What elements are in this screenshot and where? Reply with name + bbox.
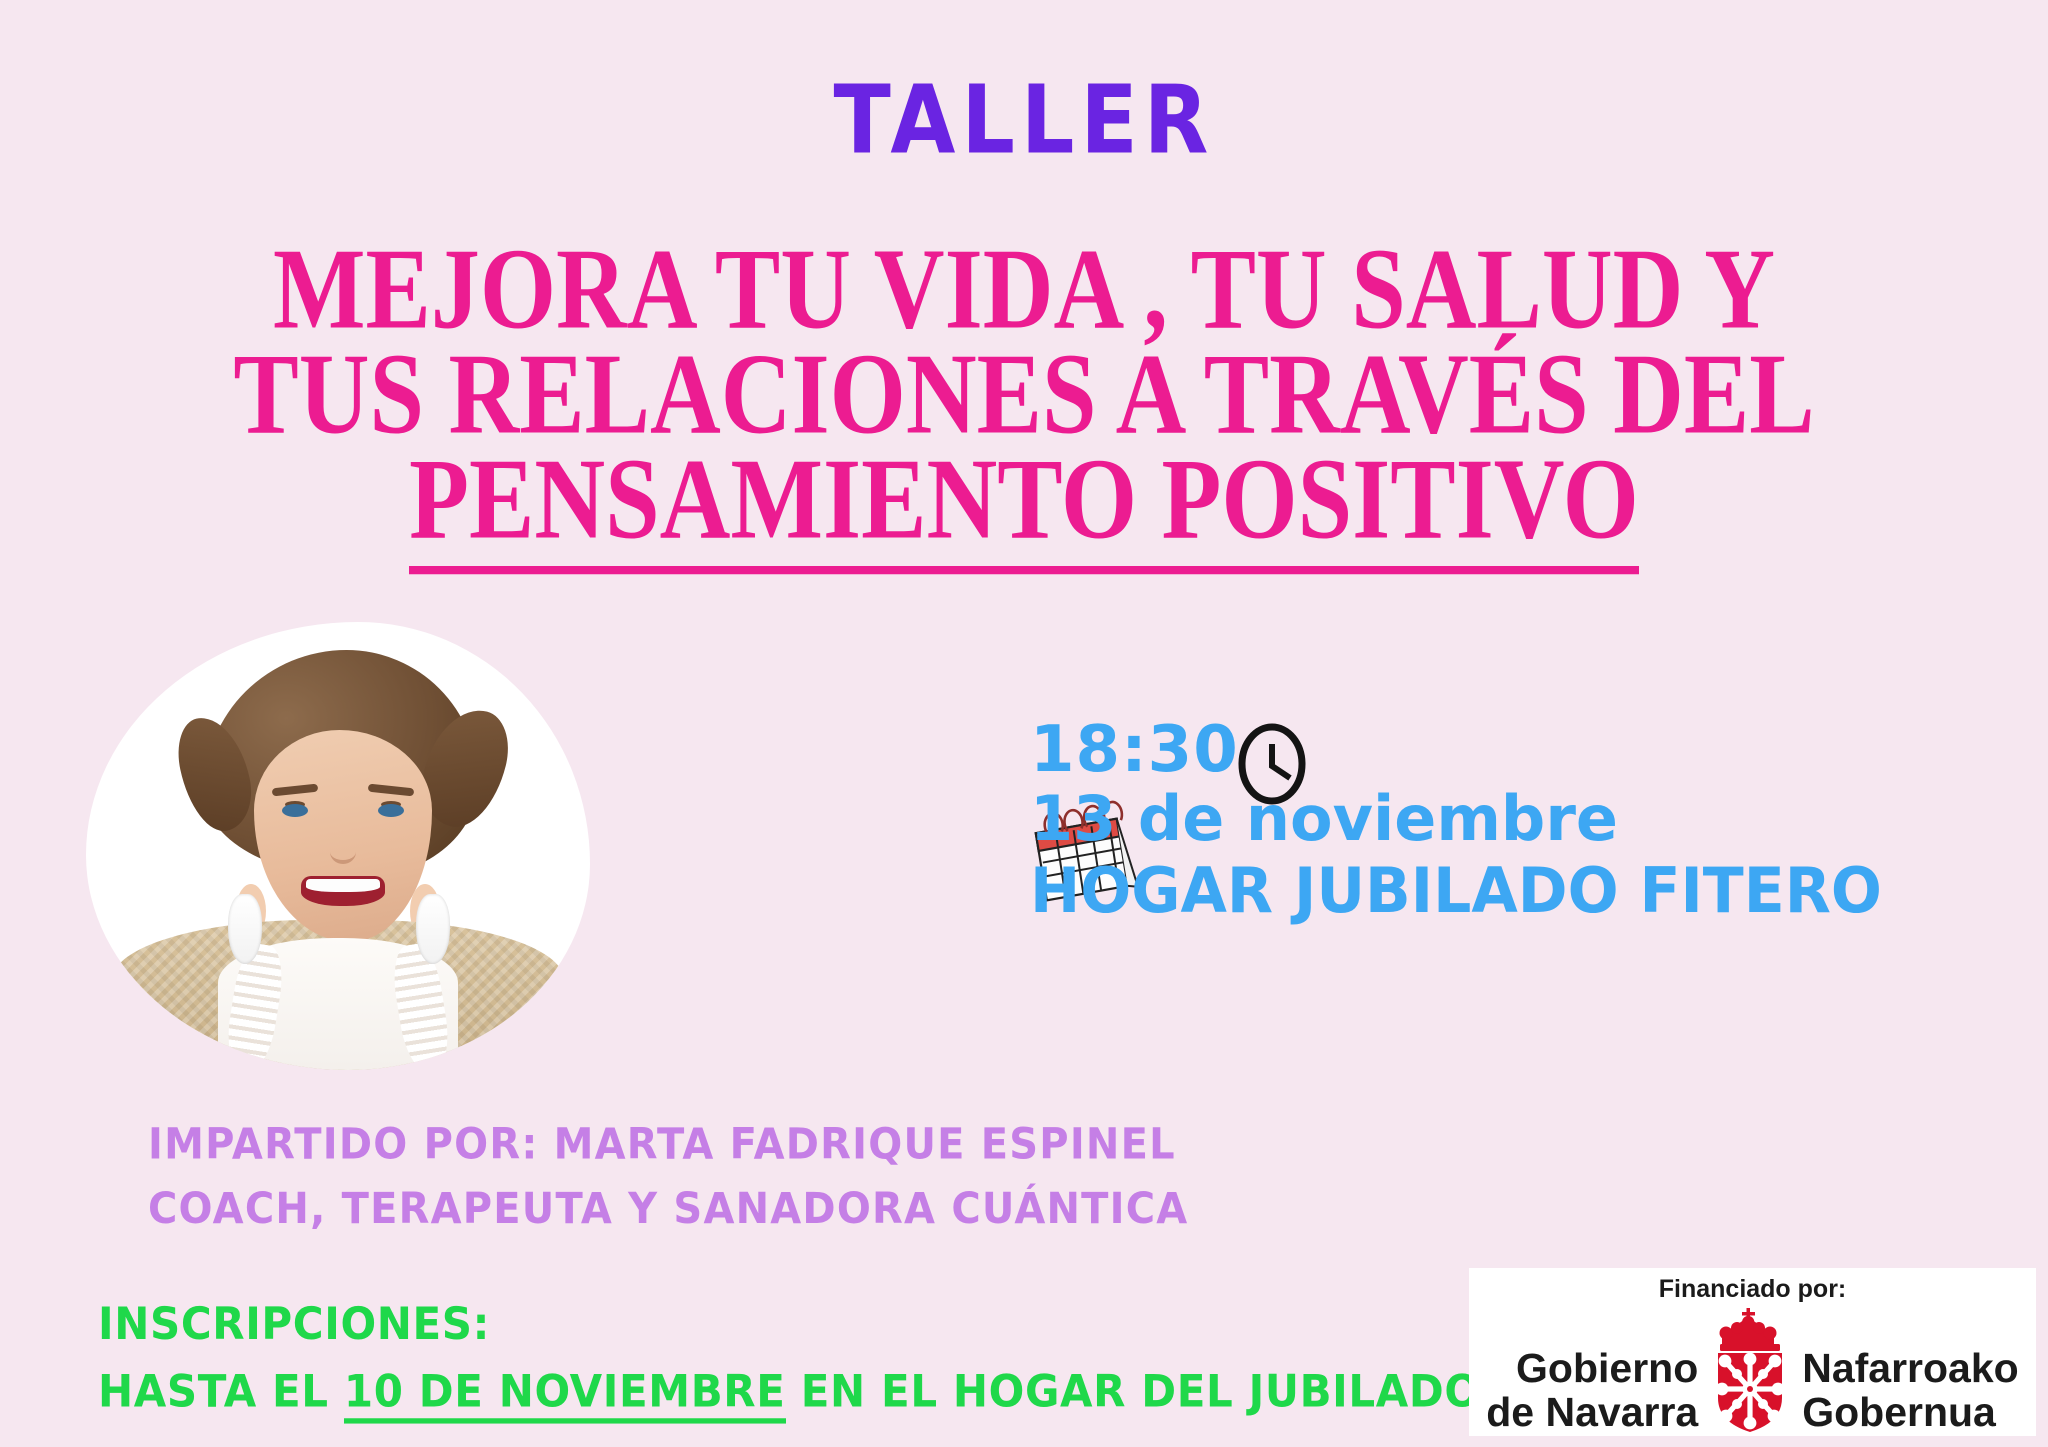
instructor-name-line: IMPARTIDO POR: MARTA FADRIQUE ESPINEL bbox=[148, 1113, 1188, 1177]
portrait-eye-left bbox=[282, 804, 308, 817]
page-title: MEJORA TU VIDA , TU SALUD Y TUS RELACION… bbox=[0, 238, 2048, 553]
portrait-earring-left bbox=[228, 894, 262, 964]
portrait-nose bbox=[330, 840, 356, 864]
portrait-mouth bbox=[301, 876, 385, 906]
poster-canvas: TALLER MEJORA TU VIDA , TU SALUD Y TUS R… bbox=[0, 0, 2048, 1447]
funder-name-spanish-line2: de Navarra bbox=[1486, 1391, 1698, 1434]
registration-prefix: HASTA EL bbox=[98, 1365, 344, 1417]
funder-logo: Financiado por: Gobierno de Navarra bbox=[1469, 1268, 2036, 1436]
event-details: 18:30 13 de noviembre HOGAR JUBILADO FIT… bbox=[1030, 718, 1882, 927]
avatar bbox=[86, 622, 590, 1070]
speaker-photo bbox=[86, 622, 590, 1070]
funder-caption: Financiado por: bbox=[1659, 1275, 1847, 1304]
navarra-coat-of-arms-icon bbox=[1704, 1306, 1796, 1434]
registration-heading: INSCRIPCIONES: bbox=[98, 1290, 1481, 1358]
title-line-3: PENSAMIENTO POSITIVO bbox=[0, 438, 2048, 562]
funder-name-spanish: Gobierno de Navarra bbox=[1486, 1347, 1704, 1434]
funder-name-basque: Nafarroako Gobernua bbox=[1796, 1347, 2018, 1434]
portrait-face bbox=[254, 730, 432, 942]
registration-suffix: EN EL HOGAR DEL JUBILADO bbox=[786, 1365, 1481, 1417]
instructor-credits: IMPARTIDO POR: MARTA FADRIQUE ESPINEL CO… bbox=[148, 1113, 1188, 1242]
funder-name-spanish-line1: Gobierno bbox=[1486, 1347, 1698, 1390]
portrait-earring-right bbox=[416, 894, 450, 964]
registration-info: INSCRIPCIONES: HASTA EL 10 DE NOVIEMBRE … bbox=[98, 1290, 1481, 1425]
funder-name-basque-line2: Gobernua bbox=[1802, 1391, 2018, 1434]
instructor-role-line: COACH, TERAPEUTA Y SANADORA CUÁNTICA bbox=[148, 1177, 1188, 1241]
event-venue: HOGAR JUBILADO FITERO bbox=[1030, 854, 1882, 929]
portrait-eye-right bbox=[378, 804, 404, 817]
funder-name-basque-line1: Nafarroako bbox=[1802, 1347, 2018, 1390]
registration-deadline-line: HASTA EL 10 DE NOVIEMBRE EN EL HOGAR DEL… bbox=[98, 1358, 1481, 1426]
funder-logo-row: Gobierno de Navarra bbox=[1469, 1306, 2036, 1434]
event-date: 13 de noviembre bbox=[1030, 782, 1882, 855]
portrait-brow-left bbox=[272, 784, 319, 797]
registration-deadline-date: 10 DE NOVIEMBRE bbox=[344, 1365, 786, 1423]
portrait-brow-right bbox=[368, 784, 415, 797]
title-line-3-underlined: PENSAMIENTO POSITIVO bbox=[409, 436, 1639, 574]
event-time: 18:30 bbox=[1030, 718, 1882, 782]
workshop-kicker: TALLER bbox=[0, 73, 2048, 167]
